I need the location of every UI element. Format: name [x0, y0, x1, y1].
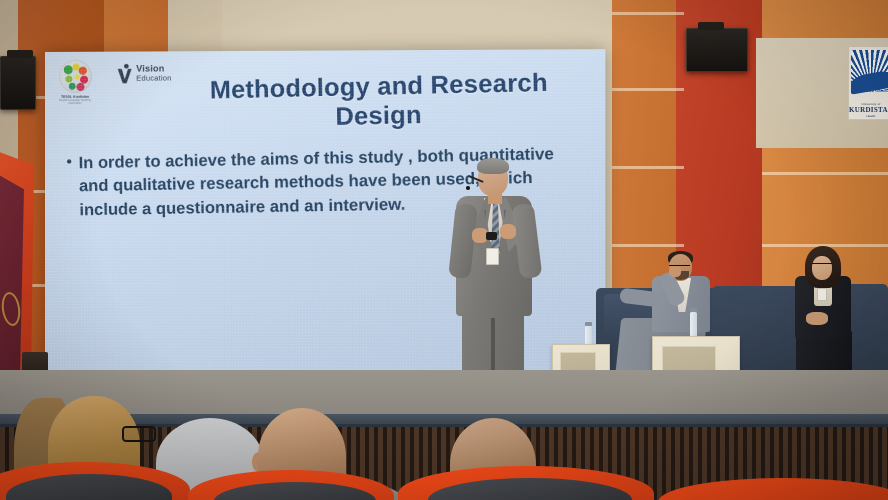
speaker-bracket	[7, 50, 33, 58]
tesol-logo-subcaption: English Language Teaching Association	[55, 99, 95, 105]
microphone-capsule-icon	[466, 186, 470, 190]
lanyard-badge	[486, 248, 499, 265]
ukh-line-3: Hewlêr	[849, 114, 888, 118]
conference-presentation-photo: University of KURDISTAN Hewlêr TESOL Kur…	[0, 0, 888, 500]
ceiling-speaker-icon	[0, 56, 36, 110]
university-of-kurdistan-sign: University of KURDISTAN Hewlêr	[848, 46, 888, 120]
wall-speaker-icon	[686, 28, 748, 72]
panelist-right-hands	[806, 312, 828, 325]
wall-seam	[612, 88, 684, 91]
vision-education-logo: Vision Education	[117, 63, 171, 83]
mosaic-globe-icon	[59, 60, 92, 93]
eyeglasses-icon	[122, 426, 156, 442]
bottle-cap	[690, 308, 697, 312]
eyeglasses-icon	[812, 263, 832, 269]
bottle-cap	[585, 322, 592, 326]
vision-v-icon	[117, 64, 132, 84]
presenter-hair	[477, 158, 509, 174]
ukh-sign-text: University of KURDISTAN Hewlêr	[849, 102, 888, 118]
wall-seam	[612, 244, 684, 247]
wall-seam	[612, 12, 684, 15]
presenter-hand-right	[500, 224, 516, 239]
bullet-marker: •	[66, 151, 72, 172]
slide-title: Methodology and Research Design	[165, 68, 595, 136]
tesol-kurdistan-logo: TESOL Kurdistan English Language Teachin…	[55, 60, 95, 106]
panelist-left-hand	[669, 266, 681, 277]
wall-seam	[612, 166, 684, 169]
lanyard-badge	[817, 288, 827, 301]
presentation-clicker-icon	[486, 232, 497, 240]
slide-logo-row: TESOL Kurdistan English Language Teachin…	[55, 59, 172, 105]
ukh-line-2: KURDISTAN	[849, 106, 888, 114]
wall-seam	[762, 172, 888, 175]
speaker-bracket	[698, 22, 724, 30]
